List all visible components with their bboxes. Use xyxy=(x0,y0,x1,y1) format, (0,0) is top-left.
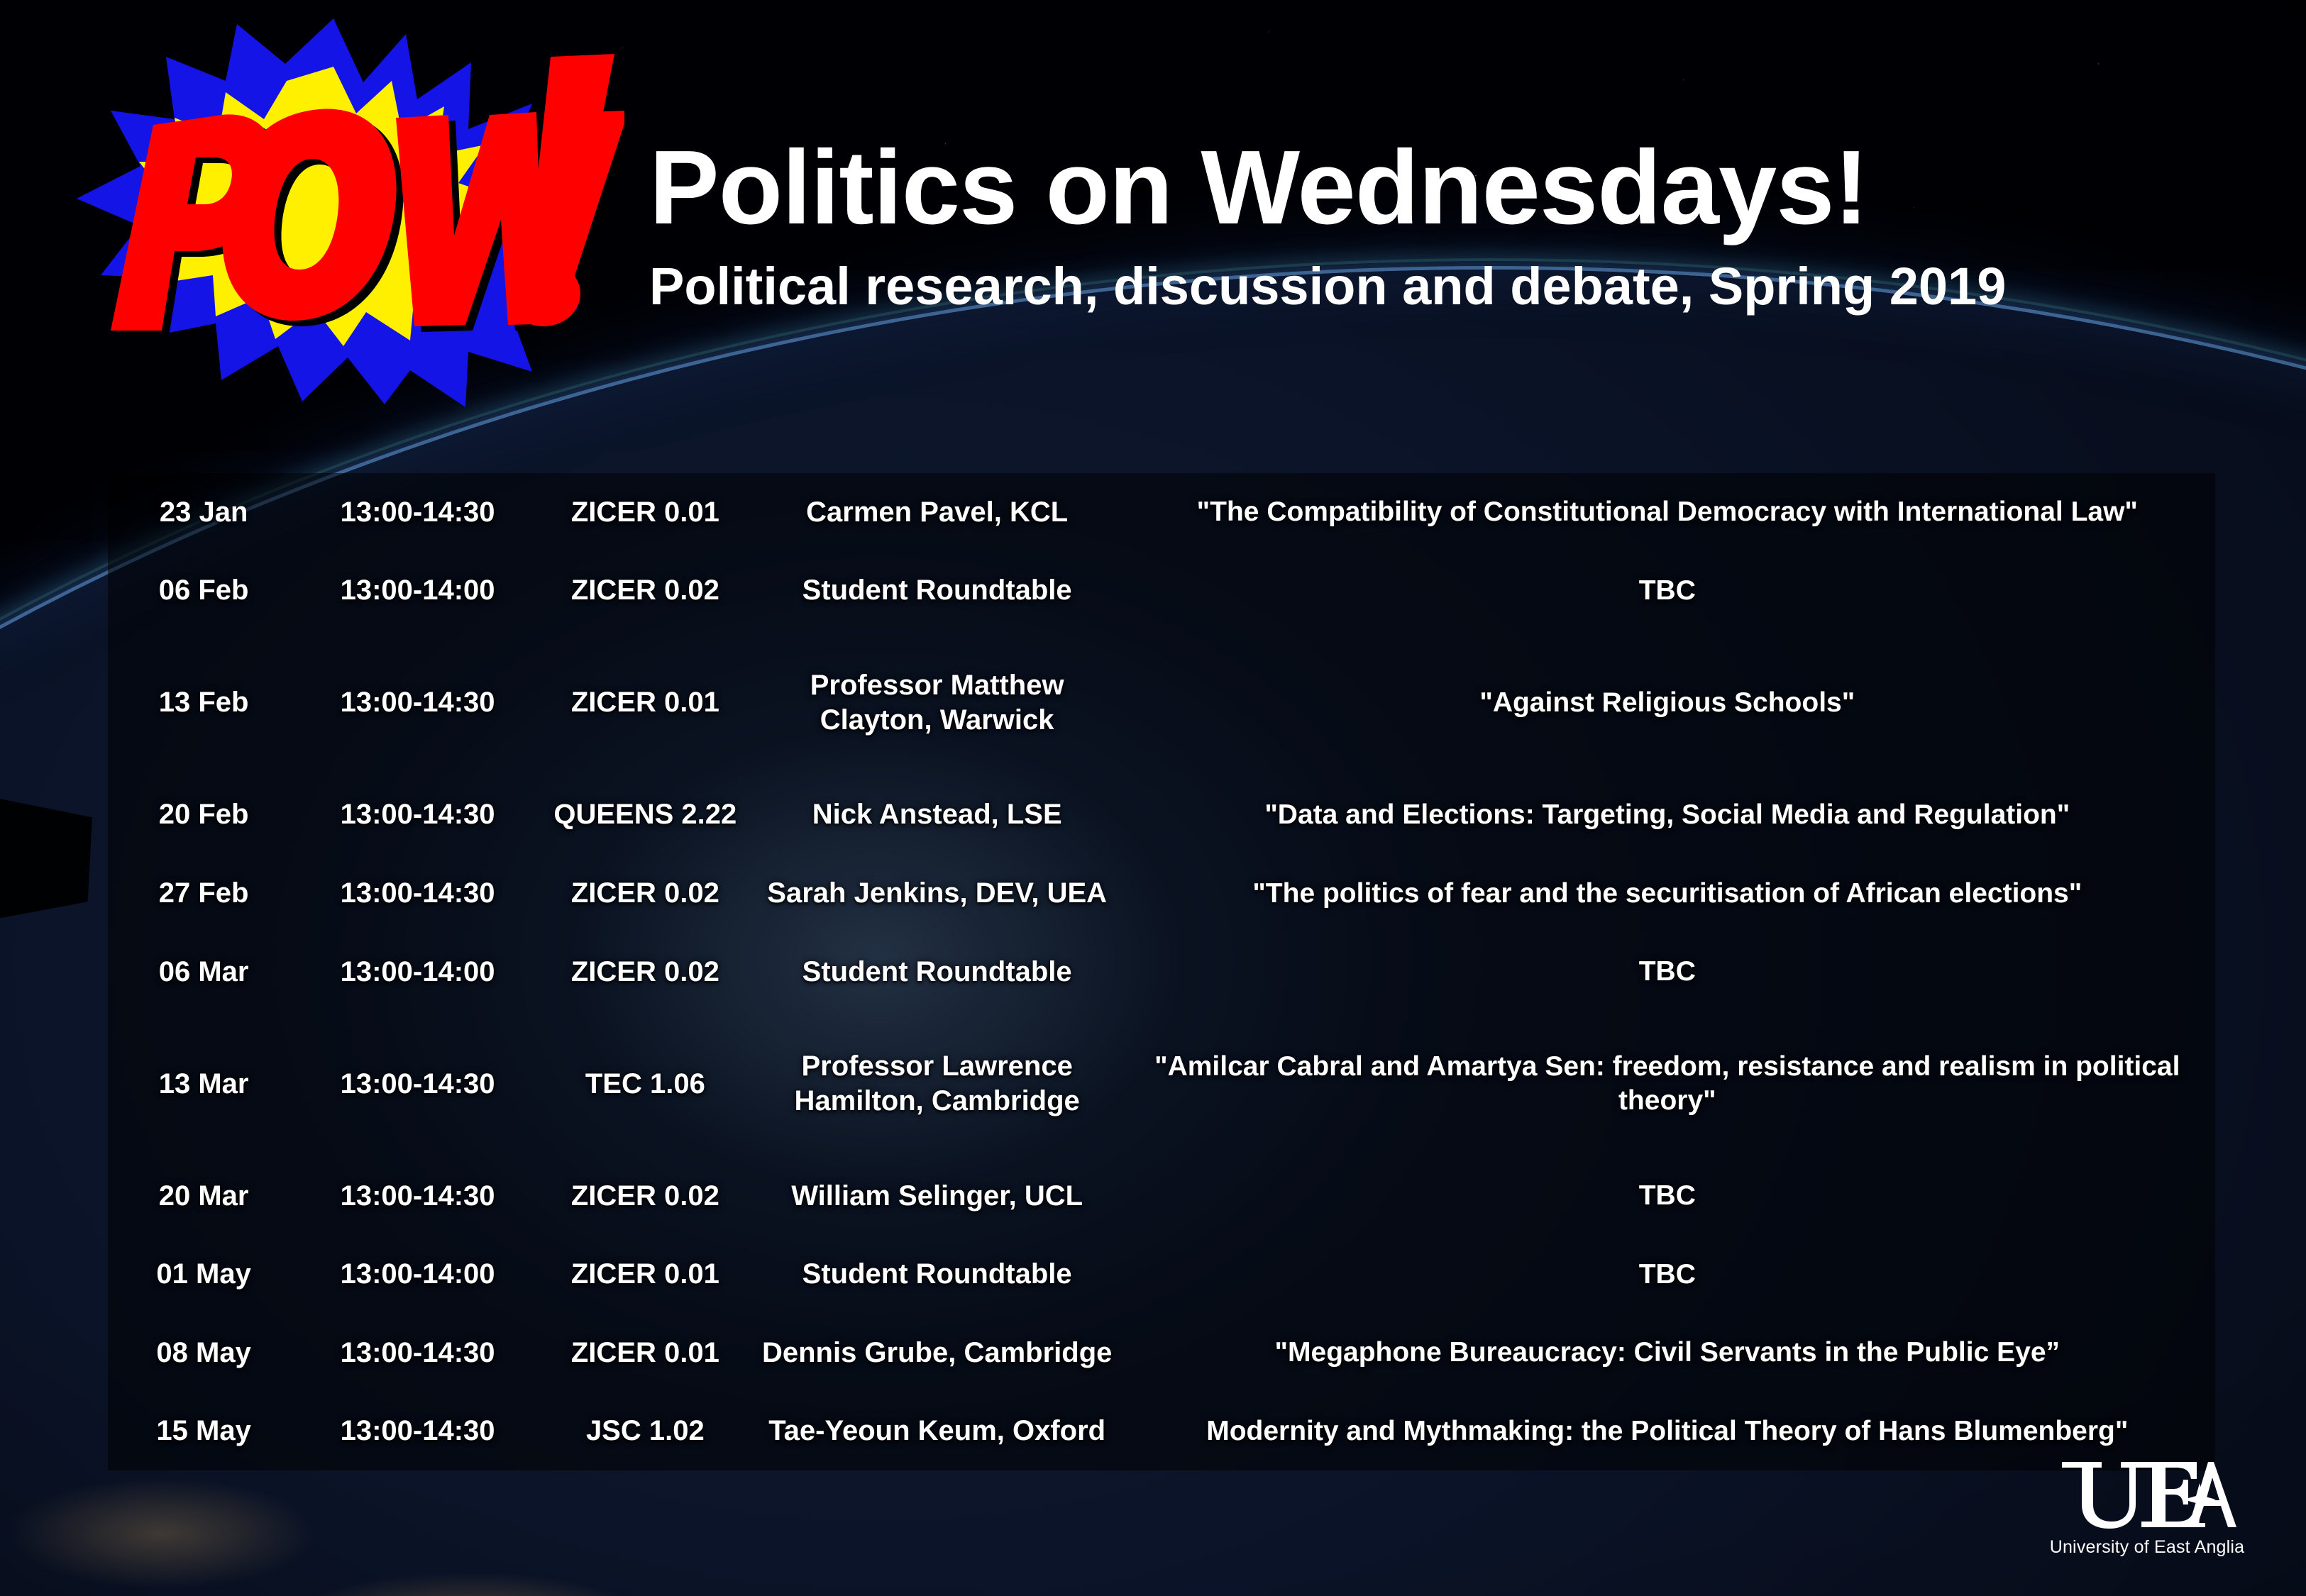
uea-logo: University of East Anglia xyxy=(2048,1458,2246,1558)
cell-speaker: Dennis Grube, Cambridge xyxy=(755,1314,1120,1392)
cell-date: 06 Mar xyxy=(108,933,299,1012)
cell-date: 27 Feb xyxy=(108,854,299,933)
cell-room: QUEENS 2.22 xyxy=(536,776,755,855)
cell-time: 13:00-14:30 xyxy=(299,1314,536,1392)
table-row: 23 Jan 13:00-14:30 ZICER 0.01 Carmen Pav… xyxy=(108,473,2215,552)
cell-time: 13:00-14:30 xyxy=(299,854,536,933)
cell-date: 15 May xyxy=(108,1392,299,1470)
cell-room: ZICER 0.02 xyxy=(536,552,755,631)
cell-room: JSC 1.02 xyxy=(536,1392,755,1470)
table-row: 08 May 13:00-14:30 ZICER 0.01 Dennis Gru… xyxy=(108,1314,2215,1392)
cell-date: 06 Feb xyxy=(108,552,299,631)
uea-monogram-icon xyxy=(2062,1462,2236,1529)
cell-room: ZICER 0.02 xyxy=(536,854,755,933)
cell-speaker: Student Roundtable xyxy=(755,933,1120,1012)
table-row: 06 Mar 13:00-14:00 ZICER 0.02 Student Ro… xyxy=(108,933,2215,1012)
cell-speaker: Professor Matthew Clayton, Warwick xyxy=(755,630,1120,776)
cell-room: ZICER 0.01 xyxy=(536,1314,755,1392)
cell-title: "The Compatibility of Constitutional Dem… xyxy=(1120,473,2215,552)
cell-speaker: Student Roundtable xyxy=(755,1235,1120,1314)
cell-title: "Amilcar Cabral and Amartya Sen: freedom… xyxy=(1120,1011,2215,1157)
table-row: 01 May 13:00-14:00 ZICER 0.01 Student Ro… xyxy=(108,1235,2215,1314)
cell-date: 01 May xyxy=(108,1235,299,1314)
cell-title: "Megaphone Bureaucracy: Civil Servants i… xyxy=(1120,1314,2215,1392)
cell-speaker: Professor Lawrence Hamilton, Cambridge xyxy=(755,1011,1120,1157)
table-row: 13 Mar 13:00-14:30 TEC 1.06 Professor La… xyxy=(108,1011,2215,1157)
cell-speaker: William Selinger, UCL xyxy=(755,1157,1120,1236)
cell-date: 13 Mar xyxy=(108,1011,299,1157)
cell-speaker: Sarah Jenkins, DEV, UEA xyxy=(755,854,1120,933)
cell-time: 13:00-14:00 xyxy=(299,1235,536,1314)
uea-wordmark: University of East Anglia xyxy=(2048,1537,2246,1558)
cell-speaker: Student Roundtable xyxy=(755,552,1120,631)
page-title: Politics on Wednesdays! xyxy=(649,135,2267,242)
table-row: 20 Mar 13:00-14:30 ZICER 0.02 William Se… xyxy=(108,1157,2215,1236)
cell-time: 13:00-14:00 xyxy=(299,552,536,631)
schedule-table-body: 23 Jan 13:00-14:30 ZICER 0.01 Carmen Pav… xyxy=(108,473,2215,1470)
schedule-panel: 23 Jan 13:00-14:30 ZICER 0.01 Carmen Pav… xyxy=(108,473,2215,1470)
cell-title: "Against Religious Schools" xyxy=(1120,630,2215,776)
pow-logo xyxy=(43,13,624,410)
cell-room: ZICER 0.01 xyxy=(536,1235,755,1314)
cell-date: 23 Jan xyxy=(108,473,299,552)
cell-time: 13:00-14:30 xyxy=(299,473,536,552)
cell-time: 13:00-14:30 xyxy=(299,1011,536,1157)
cell-room: ZICER 0.02 xyxy=(536,933,755,1012)
cell-date: 20 Feb xyxy=(108,776,299,855)
cell-time: 13:00-14:00 xyxy=(299,933,536,1012)
cell-room: ZICER 0.01 xyxy=(536,473,755,552)
cell-speaker: Nick Anstead, LSE xyxy=(755,776,1120,855)
table-row: 27 Feb 13:00-14:30 ZICER 0.02 Sarah Jenk… xyxy=(108,854,2215,933)
table-row: 15 May 13:00-14:30 JSC 1.02 Tae-Yeoun Ke… xyxy=(108,1392,2215,1470)
schedule-table: 23 Jan 13:00-14:30 ZICER 0.01 Carmen Pav… xyxy=(108,473,2215,1470)
cell-title: "The politics of fear and the securitisa… xyxy=(1120,854,2215,933)
cell-title: TBC xyxy=(1120,933,2215,1012)
cell-time: 13:00-14:30 xyxy=(299,776,536,855)
cell-title: TBC xyxy=(1120,552,2215,631)
cell-room: ZICER 0.01 xyxy=(536,630,755,776)
table-row: 20 Feb 13:00-14:30 QUEENS 2.22 Nick Anst… xyxy=(108,776,2215,855)
cell-title: TBC xyxy=(1120,1157,2215,1236)
table-row: 13 Feb 13:00-14:30 ZICER 0.01 Professor … xyxy=(108,630,2215,776)
cell-time: 13:00-14:30 xyxy=(299,1157,536,1236)
cell-date: 13 Feb xyxy=(108,630,299,776)
cell-time: 13:00-14:30 xyxy=(299,630,536,776)
cell-title: TBC xyxy=(1120,1235,2215,1314)
cell-time: 13:00-14:30 xyxy=(299,1392,536,1470)
poster: Politics on Wednesdays! Political resear… xyxy=(0,0,2306,1596)
page-subtitle: Political research, discussion and debat… xyxy=(649,259,2267,314)
cell-room: ZICER 0.02 xyxy=(536,1157,755,1236)
table-row: 06 Feb 13:00-14:00 ZICER 0.02 Student Ro… xyxy=(108,552,2215,631)
cell-date: 20 Mar xyxy=(108,1157,299,1236)
exclamation-dot xyxy=(507,261,580,326)
cell-title: "Data and Elections: Targeting, Social M… xyxy=(1120,776,2215,855)
cell-room: TEC 1.06 xyxy=(536,1011,755,1157)
poster-headings: Politics on Wednesdays! Political resear… xyxy=(649,135,2267,314)
cell-speaker: Tae-Yeoun Keum, Oxford xyxy=(755,1392,1120,1470)
cell-speaker: Carmen Pavel, KCL xyxy=(755,473,1120,552)
cell-date: 08 May xyxy=(108,1314,299,1392)
